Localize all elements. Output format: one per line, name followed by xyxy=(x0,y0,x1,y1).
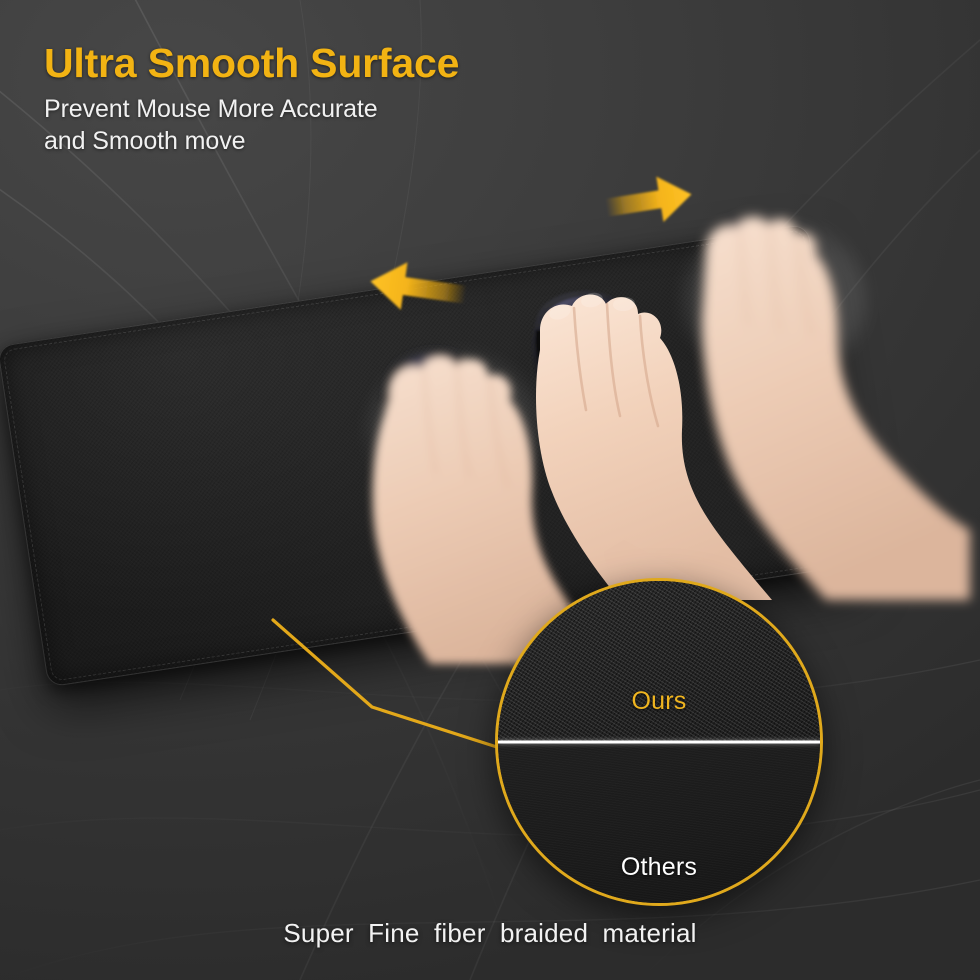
ours-label: Ours xyxy=(498,687,820,716)
page-title: Ultra Smooth Surface xyxy=(44,42,459,85)
subtitle-line-2: and Smooth move xyxy=(44,126,459,158)
others-label: Others xyxy=(498,853,820,882)
material-comparison-circle: Ours Others xyxy=(495,578,823,906)
subtitle-line-1: Prevent Mouse More Accurate xyxy=(44,94,459,126)
ours-texture-half xyxy=(498,581,820,742)
headline-block: Ultra Smooth Surface Prevent Mouse More … xyxy=(44,42,459,157)
subtitle: Prevent Mouse More Accurate and Smooth m… xyxy=(44,94,459,157)
product-infographic: Ultra Smooth Surface Prevent Mouse More … xyxy=(0,0,980,980)
comparison-divider xyxy=(498,741,820,744)
braided-weave-texture xyxy=(498,581,820,742)
material-caption: Super Fine fiber braided material xyxy=(0,918,980,949)
